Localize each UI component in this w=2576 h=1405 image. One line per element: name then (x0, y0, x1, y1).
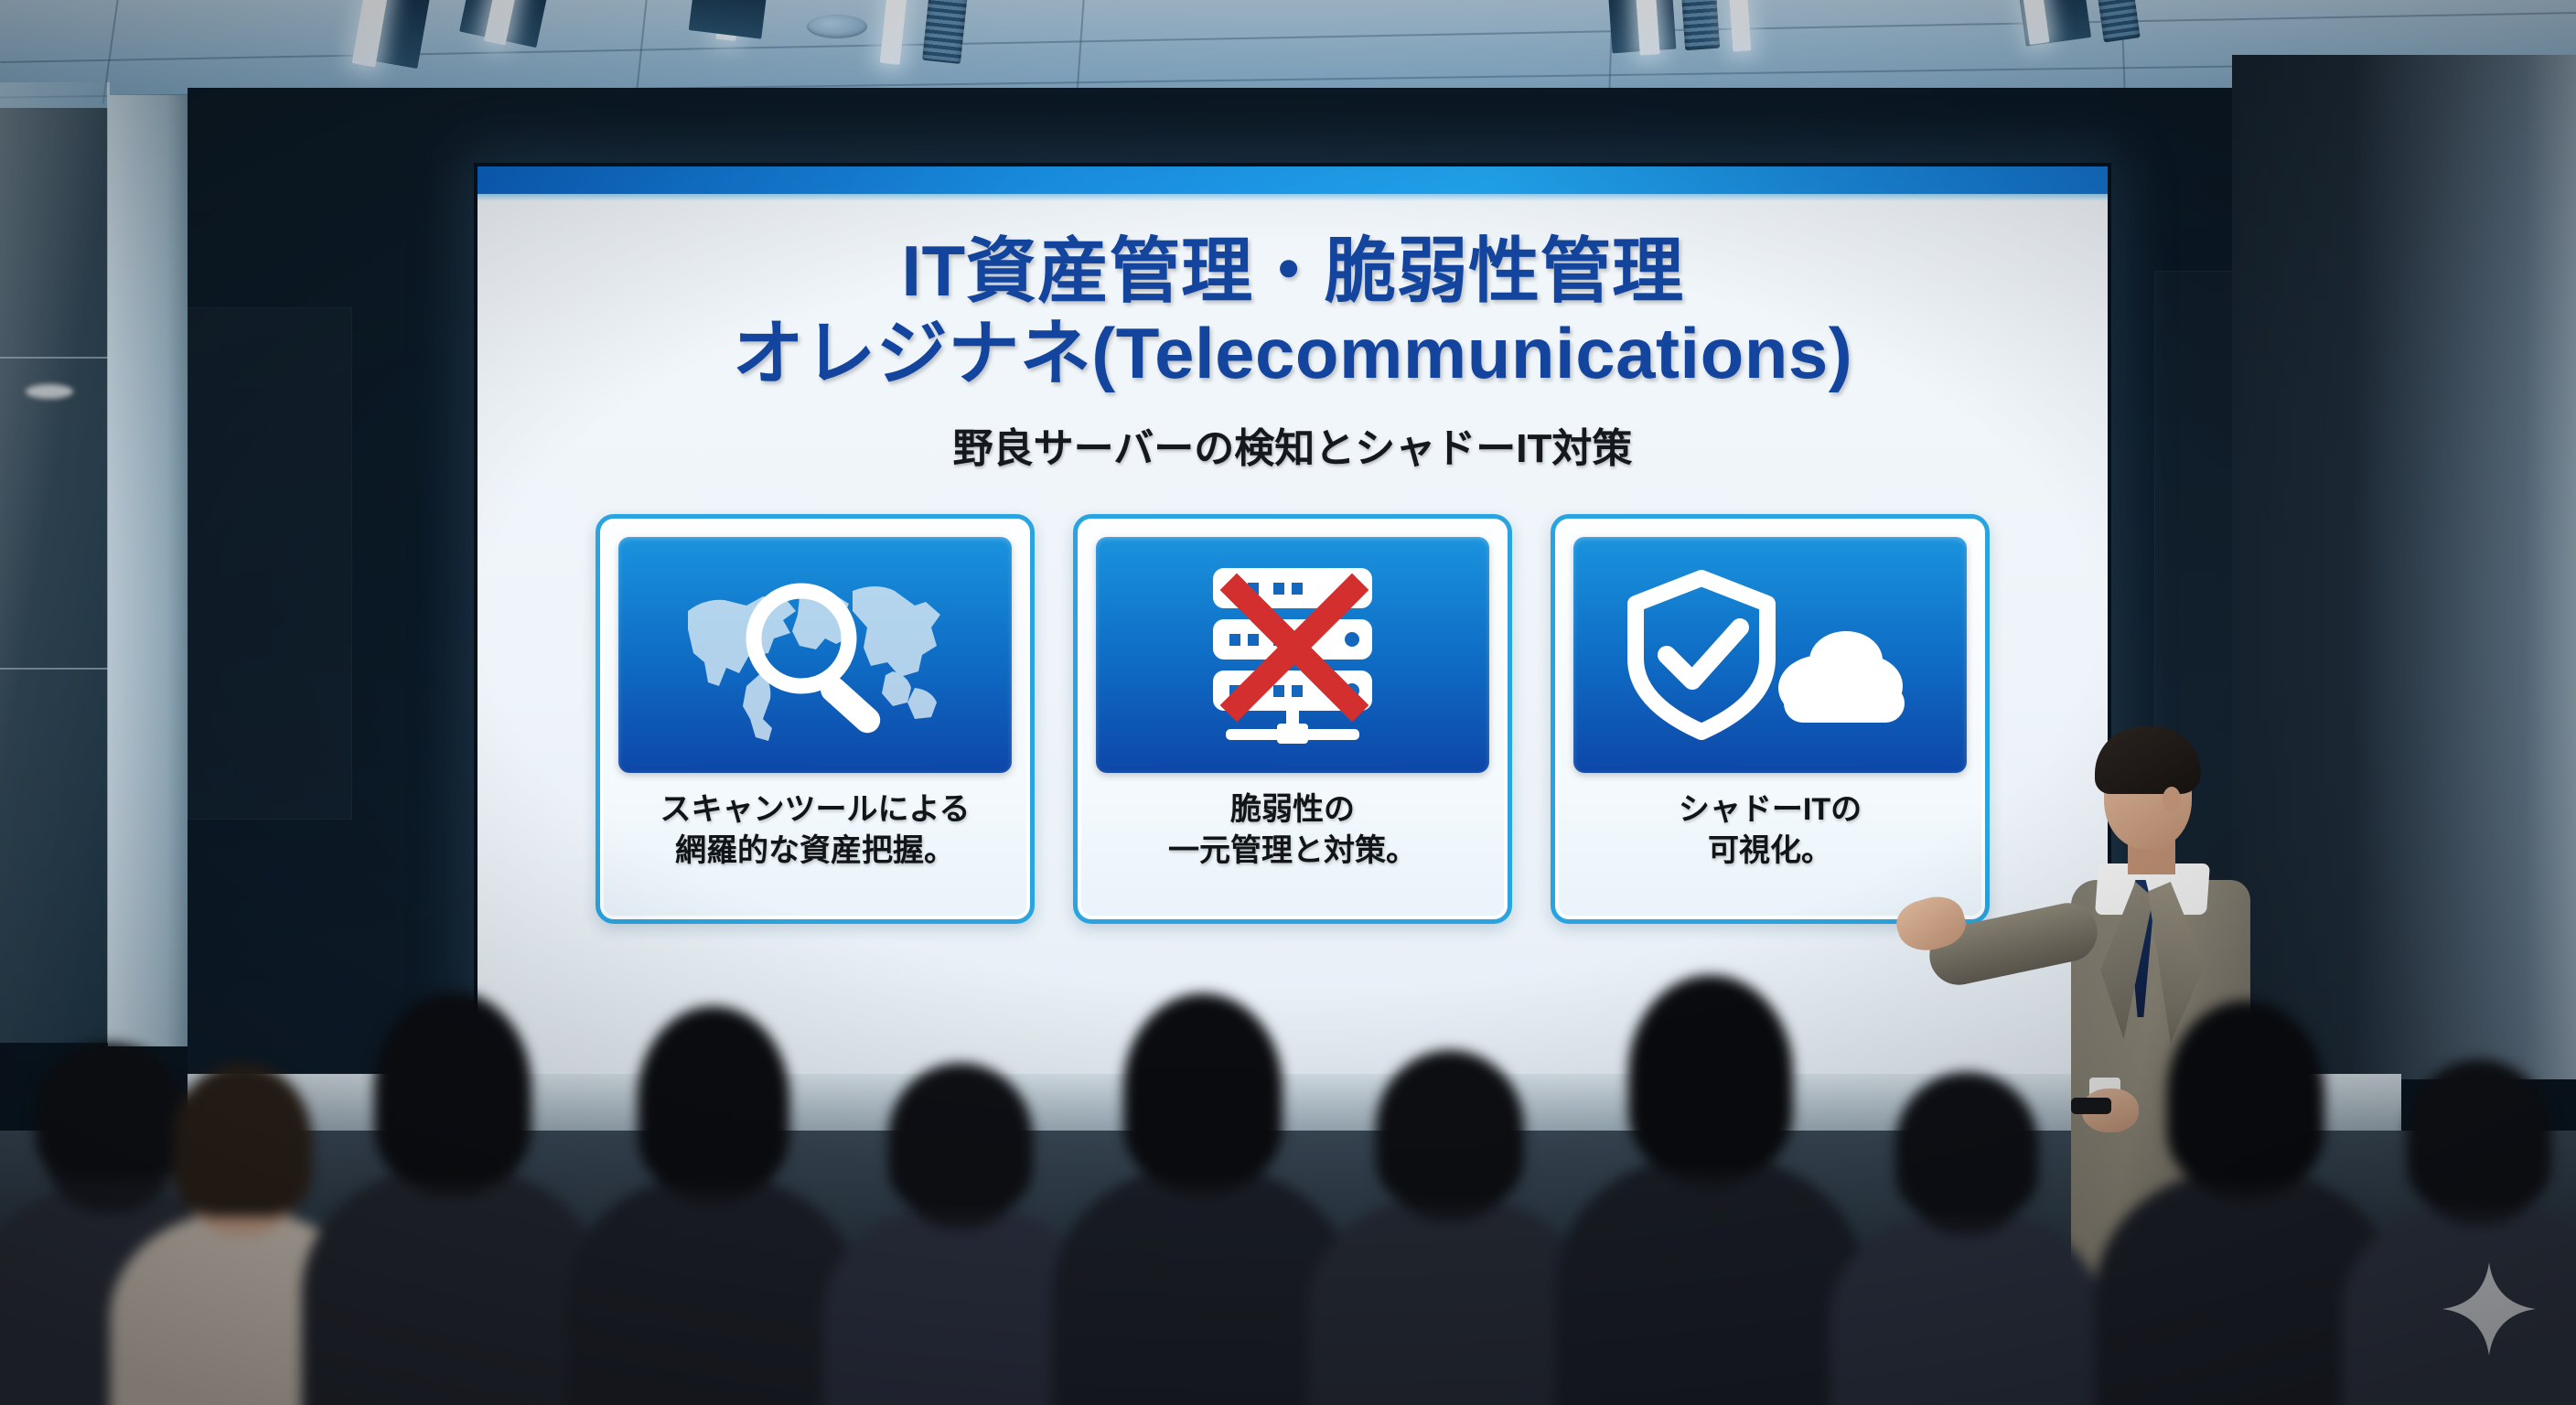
slide-title-line1: IT資産管理・脆弱性管理 (478, 232, 2108, 309)
presenter-ear (2163, 787, 2181, 812)
ceiling-led-strip (1635, 0, 1659, 56)
card-icon-panel (1096, 537, 1489, 773)
slide-title-line2: オレジナネ(Telecommunications) (478, 315, 2108, 391)
check-glyph (1667, 627, 1740, 681)
card-caption: 脆弱性の 一元管理と対策。 (1168, 789, 1417, 870)
card-caption-line2: 網羅的な資産把握。 (675, 833, 955, 868)
presenter-hair (2095, 726, 2201, 794)
ceiling-air-vent (922, 0, 968, 64)
card-caption-line1: スキャンツールによる (660, 792, 971, 827)
card-icon-panel (618, 537, 1012, 773)
server-rack-crossed-icon (1178, 559, 1407, 751)
audience-member (567, 984, 860, 1405)
feature-card-shadow-it[interactable]: シャドーITの 可視化。 (1551, 514, 1990, 924)
card-caption-line2: 可視化。 (1708, 833, 1832, 868)
ceiling-led-strip (880, 0, 908, 65)
ceiling-air-vent (2097, 0, 2140, 43)
card-icon-panel (1573, 537, 1967, 773)
wall-acoustic-panel (188, 307, 352, 820)
feature-card-scan[interactable]: スキャンツールによる 網羅的な資産把握。 (596, 514, 1035, 924)
cloud-glyph (1778, 631, 1905, 723)
feature-card-vulnerability[interactable]: 脆弱性の 一元管理と対策。 (1073, 514, 1512, 924)
globe-magnifier-icon (664, 563, 966, 746)
audience-member (1308, 1021, 1592, 1405)
card-caption-line2: 一元管理と対策。 (1168, 833, 1417, 868)
ceiling-light-housing (689, 0, 767, 39)
audience (0, 893, 2576, 1405)
card-caption-line1: シャドーITの (1679, 792, 1862, 827)
card-caption-line1: 脆弱性の (1230, 792, 1355, 827)
glass-light-reflection (26, 384, 73, 399)
meeting-room-scene: IT資産管理・脆弱性管理 オレジナネ(Telecommunications) 野… (0, 0, 2576, 1405)
sparkle-icon (2441, 1260, 2538, 1357)
slide-accent-bar (478, 166, 2108, 194)
card-caption: シャドーITの 可視化。 (1679, 789, 1862, 870)
audience-member (1555, 948, 1866, 1405)
slide-subtitle: 野良サーバーの検知とシャドーIT対策 (478, 415, 2108, 474)
audience-member (1830, 1048, 2104, 1405)
slide-header: IT資産管理・脆弱性管理 オレジナネ(Telecommunications) (478, 194, 2108, 391)
feature-card-list: スキャンツールによる 網羅的な資産把握。 (478, 514, 2108, 924)
shield-check-cloud-icon (1619, 563, 1921, 746)
ceiling-air-vent (1681, 0, 1720, 50)
card-caption: スキャンツールによる 網羅的な資産把握。 (660, 789, 971, 870)
ceiling-led-strip (1729, 0, 1752, 52)
audience-member (302, 966, 604, 1405)
smoke-detector-icon (807, 15, 867, 38)
shield-outline (1636, 578, 1767, 732)
